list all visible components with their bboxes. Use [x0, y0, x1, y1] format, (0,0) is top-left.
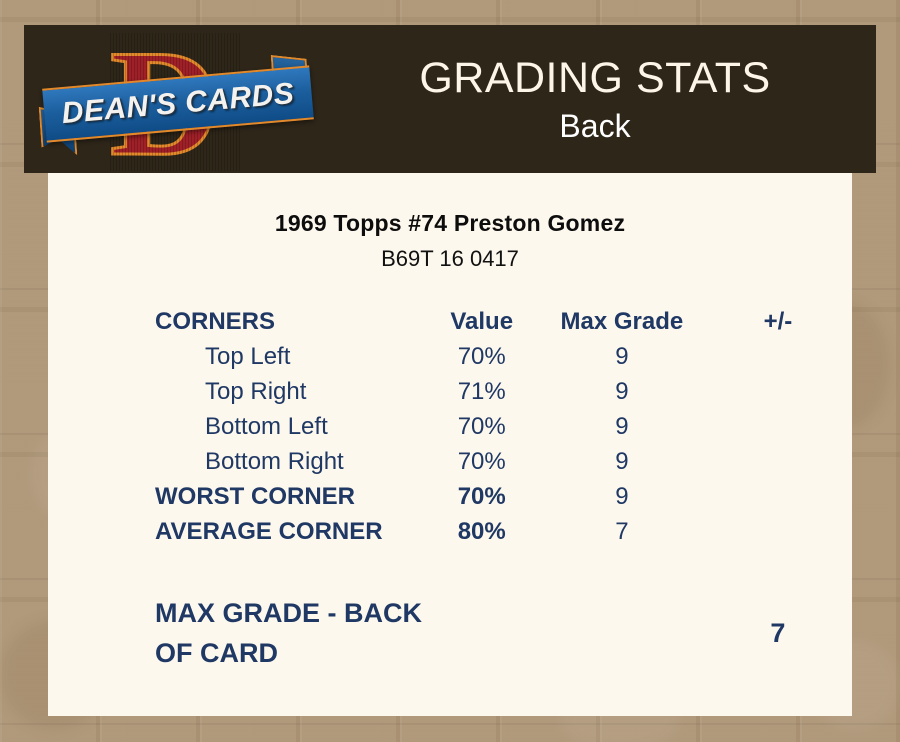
- page-title: GRADING STATS: [419, 52, 770, 104]
- header-title-group: GRADING STATS Back: [314, 25, 876, 173]
- column-header-max-grade: Max Grade: [540, 304, 704, 339]
- row-max-grade: 9: [540, 444, 704, 479]
- table-row: Bottom Left 70% 9: [48, 409, 852, 444]
- row-value: 71%: [424, 374, 540, 409]
- table-row-worst-corner: WORST CORNER 70% 9: [48, 479, 852, 514]
- row-max-grade: 9: [540, 479, 704, 514]
- row-plus-minus: [704, 479, 852, 514]
- logo-ribbon: DEAN'S CARDS: [42, 65, 314, 142]
- row-value: 70%: [424, 444, 540, 479]
- row-value: 70%: [424, 479, 540, 514]
- row-max-grade: 9: [540, 374, 704, 409]
- table-row: Bottom Right 70% 9: [48, 444, 852, 479]
- row-label: Top Right: [48, 374, 424, 409]
- row-plus-minus: [704, 409, 852, 444]
- page-subtitle: Back: [559, 106, 630, 146]
- table-row-average-corner: AVERAGE CORNER 80% 7: [48, 514, 852, 549]
- column-header-plus-minus: +/-: [704, 304, 852, 339]
- grading-stats-panel: 1969 Topps #74 Preston Gomez B69T 16 041…: [48, 173, 852, 716]
- row-plus-minus: [704, 444, 852, 479]
- row-label: AVERAGE CORNER: [48, 514, 424, 549]
- column-header-corners: CORNERS: [48, 304, 424, 339]
- row-label: Bottom Right: [48, 444, 424, 479]
- max-grade-empty-max: [540, 593, 704, 673]
- card-title: 1969 Topps #74 Preston Gomez: [48, 210, 852, 237]
- row-label: WORST CORNER: [48, 479, 424, 514]
- row-label: Top Left: [48, 339, 424, 374]
- row-value: 70%: [424, 339, 540, 374]
- row-plus-minus: [704, 339, 852, 374]
- row-max-grade: 7: [540, 514, 704, 549]
- table-spacer-cell: [48, 549, 852, 593]
- logo-ribbon-text: DEAN'S CARDS: [60, 77, 295, 131]
- row-max-grade: 9: [540, 409, 704, 444]
- max-grade-value: 7: [704, 593, 852, 673]
- table-header-row: CORNERS Value Max Grade +/-: [48, 304, 852, 339]
- row-value: 80%: [424, 514, 540, 549]
- column-header-value: Value: [424, 304, 540, 339]
- card-serial: B69T 16 0417: [48, 246, 852, 272]
- row-plus-minus: [704, 374, 852, 409]
- row-value: 70%: [424, 409, 540, 444]
- row-plus-minus: [704, 514, 852, 549]
- max-grade-summary-row: MAX GRADE - BACK OF CARD 7: [48, 593, 852, 673]
- grading-table: CORNERS Value Max Grade +/- Top Left 70%…: [48, 304, 852, 673]
- table-row: Top Right 71% 9: [48, 374, 852, 409]
- row-label: Bottom Left: [48, 409, 424, 444]
- table-spacer-row: [48, 549, 852, 593]
- grading-table-body: CORNERS Value Max Grade +/- Top Left 70%…: [48, 304, 852, 673]
- deans-cards-logo[interactable]: D DEAN'S CARDS: [44, 27, 314, 171]
- header-bar: D DEAN'S CARDS GRADING STATS Back: [24, 25, 876, 173]
- row-max-grade: 9: [540, 339, 704, 374]
- max-grade-empty-value: [424, 593, 540, 673]
- table-row: Top Left 70% 9: [48, 339, 852, 374]
- max-grade-label: MAX GRADE - BACK OF CARD: [48, 593, 424, 673]
